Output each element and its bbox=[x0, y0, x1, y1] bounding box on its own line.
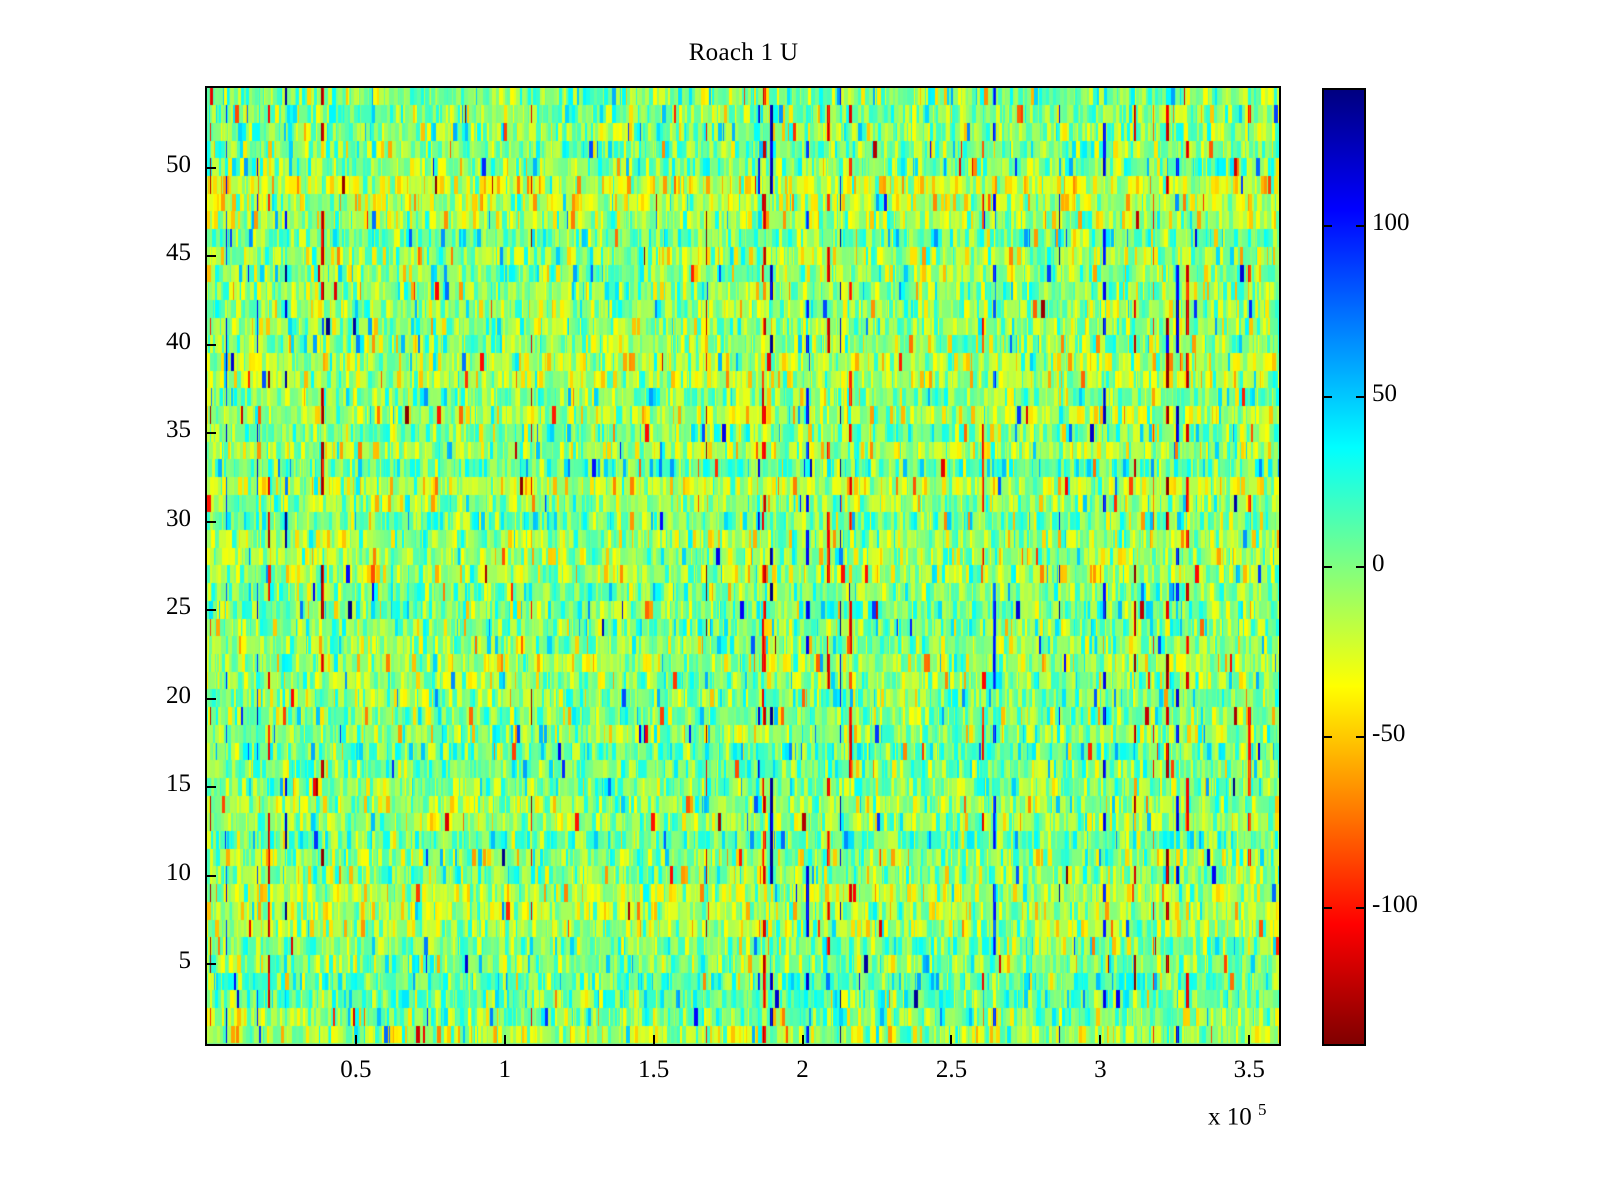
x-tick-mark bbox=[1099, 1035, 1101, 1044]
y-tick-mark bbox=[207, 875, 216, 877]
y-tick-label: 25 bbox=[0, 593, 191, 621]
y-tick-label: 50 bbox=[0, 151, 191, 179]
y-tick-mark bbox=[207, 521, 216, 523]
x-axis-exponent-label: x 10 5 bbox=[1208, 1100, 1267, 1131]
x-tick-label: 2 bbox=[796, 1056, 809, 1084]
x-tick-mark bbox=[653, 1035, 655, 1044]
y-tick-mark bbox=[207, 963, 216, 965]
page-title: Roach 1 U bbox=[0, 39, 1487, 67]
y-tick-mark bbox=[207, 609, 216, 611]
colorbar-tick-label: 100 bbox=[1372, 209, 1410, 237]
matlab-figure-window: Roach 1 U 5101520253035404550 0.511.522.… bbox=[0, 0, 1600, 1200]
y-tick-mark bbox=[207, 786, 216, 788]
y-tick-mark bbox=[207, 344, 216, 346]
colorbar-tick-mark bbox=[1324, 736, 1332, 738]
heatmap-plot-area[interactable] bbox=[205, 86, 1281, 1046]
x-tick-label: 3.5 bbox=[1234, 1056, 1265, 1084]
y-tick-mark bbox=[207, 698, 216, 700]
colorbar-tick-label: -50 bbox=[1372, 720, 1405, 748]
x-tick-label: 1.5 bbox=[638, 1056, 669, 1084]
y-tick-label: 5 bbox=[0, 947, 191, 975]
y-tick-label: 20 bbox=[0, 682, 191, 710]
y-tick-label: 30 bbox=[0, 505, 191, 533]
x-tick-label: 3 bbox=[1094, 1056, 1107, 1084]
y-tick-mark bbox=[207, 432, 216, 434]
colorbar-tick-mark bbox=[1356, 396, 1364, 398]
heatmap-image bbox=[207, 88, 1279, 1044]
y-tick-label: 35 bbox=[0, 416, 191, 444]
y-tick-label: 40 bbox=[0, 328, 191, 356]
x-tick-mark bbox=[802, 1035, 804, 1044]
x-tick-label: 2.5 bbox=[936, 1056, 967, 1084]
colorbar-tick-mark bbox=[1356, 907, 1364, 909]
colorbar-tick-mark bbox=[1356, 566, 1364, 568]
x-tick-label: 0.5 bbox=[340, 1056, 371, 1084]
x-tick-mark bbox=[1248, 1035, 1250, 1044]
colorbar-tick-mark bbox=[1356, 225, 1364, 227]
x-tick-label: 1 bbox=[499, 1056, 512, 1084]
colorbar-tick-mark bbox=[1324, 907, 1332, 909]
y-tick-label: 45 bbox=[0, 239, 191, 267]
colorbar-tick-mark bbox=[1324, 396, 1332, 398]
y-tick-mark bbox=[207, 167, 216, 169]
colorbar-tick-mark bbox=[1324, 225, 1332, 227]
colorbar-tick-mark bbox=[1356, 736, 1364, 738]
colorbar-tick-label: -100 bbox=[1372, 891, 1418, 919]
x-tick-mark bbox=[355, 1035, 357, 1044]
y-tick-mark bbox=[207, 255, 216, 257]
colorbar-tick-mark bbox=[1324, 566, 1332, 568]
x-tick-mark bbox=[504, 1035, 506, 1044]
y-tick-label: 15 bbox=[0, 770, 191, 798]
colorbar-tick-label: 50 bbox=[1372, 380, 1397, 408]
colorbar-tick-label: 0 bbox=[1372, 550, 1385, 578]
x-tick-mark bbox=[950, 1035, 952, 1044]
y-tick-label: 10 bbox=[0, 859, 191, 887]
